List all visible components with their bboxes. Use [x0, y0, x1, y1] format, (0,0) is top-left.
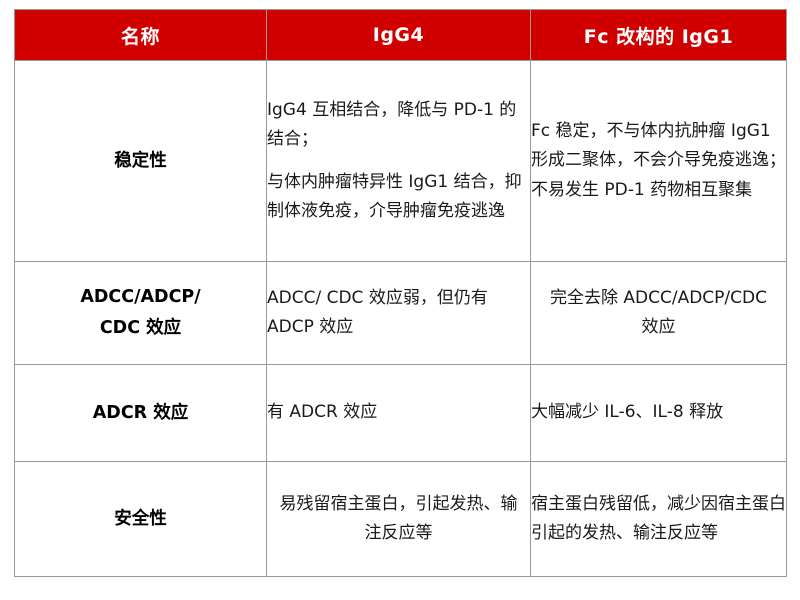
table-row: 安全性 易残留宿主蛋白，引起发热、输注反应等 宿主蛋白残留低，减少因宿主蛋白引起… — [15, 462, 787, 577]
cell-adcr-fc-igg1: 大幅减少 IL-6、IL-8 释放 — [531, 365, 787, 462]
column-header-fc-igg1: Fc 改构的 IgG1 — [531, 10, 787, 61]
row-label-safety: 安全性 — [15, 462, 267, 577]
row-label-adcr: ADCR 效应 — [15, 365, 267, 462]
cell-adcc-igg4: ADCC/ CDC 效应弱，但仍有 ADCP 效应 — [267, 262, 531, 365]
cell-paragraph: 易残留宿主蛋白，引起发热、输注反应等 — [275, 490, 522, 548]
header-row: 名称 IgG4 Fc 改构的 IgG1 — [15, 10, 787, 61]
cell-paragraph: Fc 稳定，不与体内抗肿瘤 IgG1 形成二聚体，不会介导免疫逃逸；不易发生 P… — [531, 117, 786, 205]
cell-paragraph: 有 ADCR 效应 — [267, 398, 530, 427]
row-label-line: ADCR 效应 — [15, 398, 266, 429]
cell-paragraph: IgG4 互相结合，降低与 PD-1 的结合； — [267, 96, 530, 154]
cell-stability-igg4: IgG4 互相结合，降低与 PD-1 的结合； 与体内肿瘤特异性 IgG1 结合… — [267, 61, 531, 262]
page-root: 名称 IgG4 Fc 改构的 IgG1 稳定性 IgG4 互相结合，降低与 PD… — [0, 0, 800, 600]
table-header: 名称 IgG4 Fc 改构的 IgG1 — [15, 10, 787, 61]
table-row: ADCR 效应 有 ADCR 效应 大幅减少 IL-6、IL-8 释放 — [15, 365, 787, 462]
row-label-line: 稳定性 — [15, 146, 266, 177]
column-header-igg4: IgG4 — [267, 10, 531, 61]
column-header-name: 名称 — [15, 10, 267, 61]
table-row: ADCC/ADCP/ CDC 效应 ADCC/ CDC 效应弱，但仍有 ADCP… — [15, 262, 787, 365]
comparison-table: 名称 IgG4 Fc 改构的 IgG1 稳定性 IgG4 互相结合，降低与 PD… — [14, 9, 787, 577]
comparison-table-container: 名称 IgG4 Fc 改构的 IgG1 稳定性 IgG4 互相结合，降低与 PD… — [14, 9, 786, 573]
row-label-line: 安全性 — [15, 504, 266, 535]
cell-paragraph: 宿主蛋白残留低，减少因宿主蛋白引起的发热、输注反应等 — [531, 490, 786, 548]
row-label-adcc-adcp-cdc: ADCC/ADCP/ CDC 效应 — [15, 262, 267, 365]
row-label-stability: 稳定性 — [15, 61, 267, 262]
cell-adcc-fc-igg1: 完全去除 ADCC/ADCP/CDC 效应 — [531, 262, 787, 365]
cell-paragraph: 完全去除 ADCC/ADCP/CDC 效应 — [539, 284, 778, 342]
row-label-line: CDC 效应 — [15, 313, 266, 344]
cell-safety-igg4: 易残留宿主蛋白，引起发热、输注反应等 — [267, 462, 531, 577]
row-label-line: ADCC/ADCP/ — [15, 282, 266, 313]
table-row: 稳定性 IgG4 互相结合，降低与 PD-1 的结合； 与体内肿瘤特异性 IgG… — [15, 61, 787, 262]
table-body: 稳定性 IgG4 互相结合，降低与 PD-1 的结合； 与体内肿瘤特异性 IgG… — [15, 61, 787, 577]
cell-adcr-igg4: 有 ADCR 效应 — [267, 365, 531, 462]
cell-paragraph: ADCC/ CDC 效应弱，但仍有 ADCP 效应 — [267, 284, 530, 342]
cell-safety-fc-igg1: 宿主蛋白残留低，减少因宿主蛋白引起的发热、输注反应等 — [531, 462, 787, 577]
cell-paragraph: 与体内肿瘤特异性 IgG1 结合，抑制体液免疫，介导肿瘤免疫逃逸 — [267, 168, 530, 226]
cell-paragraph: 大幅减少 IL-6、IL-8 释放 — [531, 398, 786, 427]
cell-stability-fc-igg1: Fc 稳定，不与体内抗肿瘤 IgG1 形成二聚体，不会介导免疫逃逸；不易发生 P… — [531, 61, 787, 262]
